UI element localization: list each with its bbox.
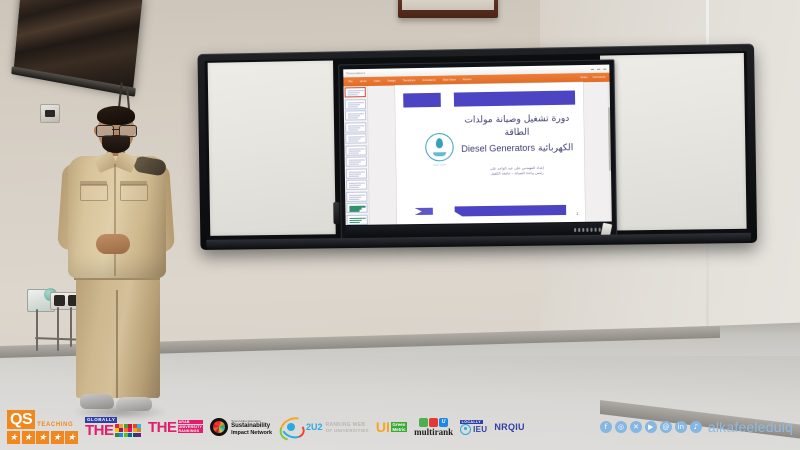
star-icon: ★ [36, 431, 49, 444]
qs-teaching-label: TEACHING [37, 422, 73, 428]
slide-thumbnail[interactable] [346, 168, 367, 178]
the-wordmark: THE [85, 423, 114, 438]
the-arab-lines: ARAB UNIVERSITY RANKINGS [178, 420, 204, 434]
ribbon-tab-review[interactable]: Review [463, 78, 472, 81]
ui-mark: UI [376, 420, 390, 434]
star-icon: ★ [22, 431, 35, 444]
slide-subtitle: إعداد المهندس علي عبد الواحد علي رئيس وح… [463, 165, 572, 177]
ribbon-tab-insert[interactable]: Insert [374, 80, 381, 83]
threads-icon[interactable]: @ [660, 421, 672, 433]
star-icon: ★ [7, 431, 20, 444]
window-title: Presentation1 [346, 71, 365, 75]
slide-accent-bar-top-right [453, 90, 574, 106]
window-controls[interactable] [591, 68, 606, 69]
screenshot-root: Presentation1 File Home Insert Design Tr… [0, 0, 800, 450]
nrqiu-logo: NRQIU [494, 422, 525, 432]
presenter-trousers [76, 276, 160, 398]
display-screen[interactable]: Presentation1 File Home Insert Design Tr… [343, 65, 612, 225]
ieu-name: IEU [473, 425, 487, 434]
eyeglass-bridge [112, 129, 119, 130]
wall-mounted-television [14, 0, 143, 89]
presenter-eyeglasses [95, 125, 137, 135]
slide-thumbnail-panel[interactable] [343, 86, 369, 225]
slide-editing-stage[interactable]: جامعة الكفيل دورة تشغيل وصيانة مولدات ال… [368, 82, 612, 225]
whiteboard-left-panel[interactable] [208, 61, 336, 236]
slide-thumbnail[interactable] [346, 203, 367, 213]
ranking-web-mark: 2U2 [306, 422, 323, 432]
slide-subtitle-line-2: رئيس وحدة الصيانة - جامعة الكفيل [463, 170, 572, 177]
logo-caption: جامعة الكفيل [424, 163, 454, 166]
qs-mark: QS [7, 410, 35, 429]
slide-accent-chevron-left [415, 208, 433, 215]
ribbon-tab-slideshow[interactable]: Slide Show [443, 78, 456, 81]
x-twitter-icon[interactable]: ✕ [630, 421, 642, 433]
slide-thumbnail[interactable] [347, 214, 368, 224]
wall-plate-outlet [40, 104, 60, 123]
slide-title-line-2-arabic: الكهربائية [538, 143, 573, 154]
presenter-jacket-placket [114, 164, 116, 276]
picture-mat [402, 0, 494, 10]
the-arab-line-1: ARAB [178, 420, 204, 424]
ranking-web-line-2: OF UNIVERSITIES [326, 428, 369, 433]
social-handle[interactable]: alkafeeleduiq [708, 419, 793, 435]
slide-thumbnail[interactable] [345, 87, 366, 97]
slide-thumbnail[interactable] [345, 122, 366, 132]
presenter-pocket-flap-right [120, 181, 147, 186]
social-media-bar: f ◎ ✕ ▶ @ in ♪ alkafeeleduiq [600, 419, 793, 435]
powerpoint-body: جامعة الكفيل دورة تشغيل وصيانة مولدات ال… [343, 82, 611, 225]
ui-greenmetric-logo: UI Green Metric [376, 420, 407, 434]
slide-number: 1 [576, 211, 578, 216]
presenter-trouser-seam [116, 290, 118, 398]
slide-accent-bar-bottom [454, 205, 566, 217]
multirank-dots: U [419, 418, 448, 427]
ribbon-right-actions[interactable]: Share Comments [580, 76, 605, 79]
slide-thumbnail[interactable] [346, 156, 367, 166]
sin-line-3: Impact Network [231, 430, 272, 436]
sustainability-impact-network-logo: Times Higher Education Sustainability Im… [210, 418, 272, 436]
the-impact-rankings-logo: GLOBALLY THE [85, 417, 141, 438]
slide-title-line-2-english: Diesel Generators [461, 143, 535, 154]
ribbon-tab-animations[interactable]: Animations [422, 79, 435, 82]
presenter-pocket-flap-left [80, 181, 107, 186]
display-control-buttons[interactable] [574, 228, 601, 232]
presenter-clasped-hands [96, 234, 130, 254]
qs-stars-logo: QS TEACHING ★ ★ ★ ★ ★ [7, 410, 78, 444]
slide-title: دورة تشغيل وصيانة مولدات الطاقة الكهربائ… [458, 113, 577, 157]
ribbon-tab-home[interactable]: Home [360, 80, 367, 83]
ribbon-tab-file[interactable]: File [348, 80, 352, 83]
framed-picture [398, 0, 498, 18]
vertical-scrollbar[interactable] [607, 82, 612, 222]
ieu-logo: LOCALLY IEU [460, 420, 487, 435]
ranking-web-text: RANKING WEB OF UNIVERSITIES [326, 422, 369, 433]
the-arab-row: THE ARAB UNIVERSITY RANKINGS [148, 420, 203, 435]
slide-thumbnail[interactable] [346, 191, 367, 201]
greenmetric-line-1: Green [391, 422, 407, 427]
interactive-whiteboard-with-display[interactable]: Presentation1 File Home Insert Design Tr… [197, 44, 757, 250]
electrical-conduit [36, 309, 38, 351]
instagram-icon[interactable]: ◎ [615, 421, 627, 433]
qs-star-rating: ★ ★ ★ ★ ★ [7, 431, 78, 444]
qs-logo-top: QS TEACHING [7, 410, 73, 429]
the-arab-line-3: RANKINGS [178, 429, 204, 433]
whiteboard-frame: Presentation1 File Home Insert Design Tr… [197, 44, 757, 250]
ribbon-tab-design[interactable]: Design [387, 79, 395, 82]
logo-mark [425, 133, 454, 162]
university-water-drop-logo: جامعة الكفيل [424, 133, 455, 170]
the-arab-line-2: UNIVERSITY [178, 425, 204, 429]
current-slide[interactable]: جامعة الكفيل دورة تشغيل وصيانة مولدات ال… [394, 82, 584, 224]
slide-thumbnail[interactable] [345, 145, 366, 155]
presenter-chest-pocket-right [120, 184, 148, 201]
eyeglass-lens-left [96, 125, 114, 137]
webometrics-eye-icon [279, 418, 303, 436]
whiteboard-inner: Presentation1 File Home Insert Design Tr… [205, 51, 750, 240]
youtube-icon[interactable]: ▶ [645, 421, 657, 433]
whiteboard-right-panel[interactable] [600, 53, 747, 231]
sustainability-text: Times Higher Education Sustainability Im… [231, 419, 272, 436]
the-impact-row: THE [85, 423, 141, 438]
slide-title-line-2: الكهربائية Diesel Generators [458, 140, 576, 157]
accreditation-logo-bar: QS TEACHING ★ ★ ★ ★ ★ GLOBALLY THE [0, 404, 800, 450]
greenmetric-lines: Green Metric [391, 422, 407, 433]
sdg-wheel-icon [210, 418, 228, 436]
share-button[interactable]: Share [580, 76, 587, 79]
presenter-beard [102, 135, 130, 153]
ieu-row: IEU [460, 424, 487, 435]
star-icon: ★ [51, 431, 64, 444]
whiteboard-marker[interactable] [333, 202, 339, 224]
interactive-display-panel[interactable]: Presentation1 File Home Insert Design Tr… [338, 59, 617, 241]
facebook-icon[interactable]: f [600, 421, 612, 433]
presenter-chest-pocket-left [80, 184, 108, 201]
sin-line-2: Sustainability [231, 423, 272, 430]
slide-thumbnail[interactable] [345, 110, 366, 120]
powerpoint-window[interactable]: Presentation1 File Home Insert Design Tr… [343, 65, 612, 225]
slide-thumbnail[interactable] [345, 99, 366, 109]
greenmetric-line-2: Metric [391, 427, 407, 432]
slide-accent-bar-top-left [403, 93, 441, 108]
the-arab-rankings-logo: THE ARAB UNIVERSITY RANKINGS [148, 420, 203, 435]
slide-thumbnail[interactable] [345, 133, 366, 143]
ieu-ring-icon [460, 424, 471, 435]
presenter-standing [58, 108, 174, 418]
comments-button[interactable]: Comments [593, 76, 606, 79]
sdg-color-grid [115, 424, 142, 437]
eyeglass-lens-right [119, 125, 137, 137]
star-icon: ★ [65, 431, 78, 444]
the-wordmark: THE [148, 420, 177, 435]
slide-title-line-1: دورة تشغيل وصيانة مولدات الطاقة [458, 113, 577, 141]
presenter-hair [97, 106, 135, 125]
multirank-wordmark: multirank [414, 427, 453, 437]
u-multirank-logo: U multirank [414, 418, 453, 437]
slide-thumbnail[interactable] [346, 180, 367, 190]
linkedin-icon[interactable]: in [675, 421, 687, 433]
tiktok-icon[interactable]: ♪ [690, 421, 702, 433]
ribbon-tab-transitions[interactable]: Transitions [403, 79, 416, 82]
ranking-web-universities-logo: 2U2 RANKING WEB OF UNIVERSITIES [279, 418, 369, 436]
